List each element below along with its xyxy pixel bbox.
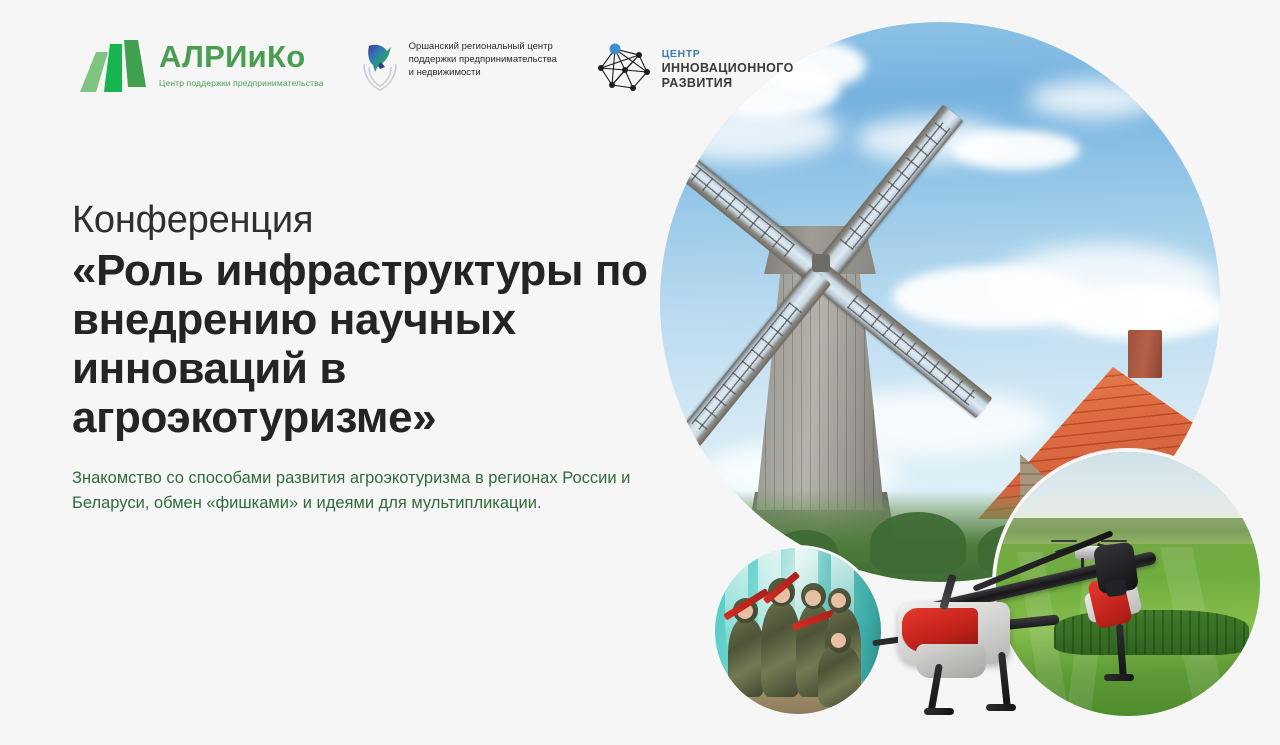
logo-bar: АЛРИиКо Центр поддержки предпринимательс… [78,38,794,96]
house-chimney [1128,330,1162,378]
logo-orsha-regional-center: Оршанский региональный центр поддержки п… [360,38,559,94]
drone-foot [924,708,954,715]
logo-alriiko: АЛРИиКо Центр поддержки предпринимательс… [78,38,324,93]
polygon-network-icon [595,38,653,96]
cloud [1028,80,1158,118]
child-figure [761,601,801,697]
child-face [831,593,846,608]
logo-alriiko-text: АЛРИиКо Центр поддержки предпринимательс… [159,38,324,88]
logo-innovation-line3: РАЗВИТИЯ [662,76,794,91]
drone-spray-tank [916,644,986,678]
agricultural-drone-icon [880,540,1210,730]
child-face [805,590,822,607]
logo-alriiko-title: АЛРИиКо [159,41,324,72]
hero-text-block: Конференция «Роль инфраструктуры по внед… [72,200,712,517]
image-children-lasertag-circle [712,545,884,717]
hummingbird-in-hands-icon [360,38,400,94]
three-green-bars-icon [78,38,150,93]
logo-alriiko-subtitle: Центр поддержки предпринимательства [159,78,324,88]
child-face [831,633,846,648]
logo-orsha-text: Оршанский региональный центр поддержки п… [409,38,559,79]
child-figure [728,618,765,698]
logo-innovation-text: ЦЕНТР ИННОВАЦИОННОГО РАЗВИТИЯ [662,38,794,91]
logo-innovation-line1: ЦЕНТР [662,47,794,61]
logo-innovation-line2: ИННОВАЦИОННОГО [662,61,794,76]
windmill-hub [812,254,830,272]
poster-canvas: АЛРИиКо Центр поддержки предпринимательс… [0,0,1280,745]
hero-headline: «Роль инфраструктуры по внедрению научны… [72,247,712,442]
hero-subtext: Знакомство со способами развития агроэко… [72,466,652,516]
hero-eyebrow: Конференция [72,200,712,241]
children-scene [715,548,881,714]
drone-camera-lens [1105,579,1127,598]
cloud [952,130,1080,170]
logo-innovation-development-center: ЦЕНТР ИННОВАЦИОННОГО РАЗВИТИЯ [595,38,794,96]
drone-leg [1116,624,1127,678]
drone-foot [1104,674,1134,681]
field-sky [996,452,1260,523]
drone-foot [986,704,1016,711]
child-figure-kneeling [818,644,861,707]
drone-leg [998,652,1011,708]
